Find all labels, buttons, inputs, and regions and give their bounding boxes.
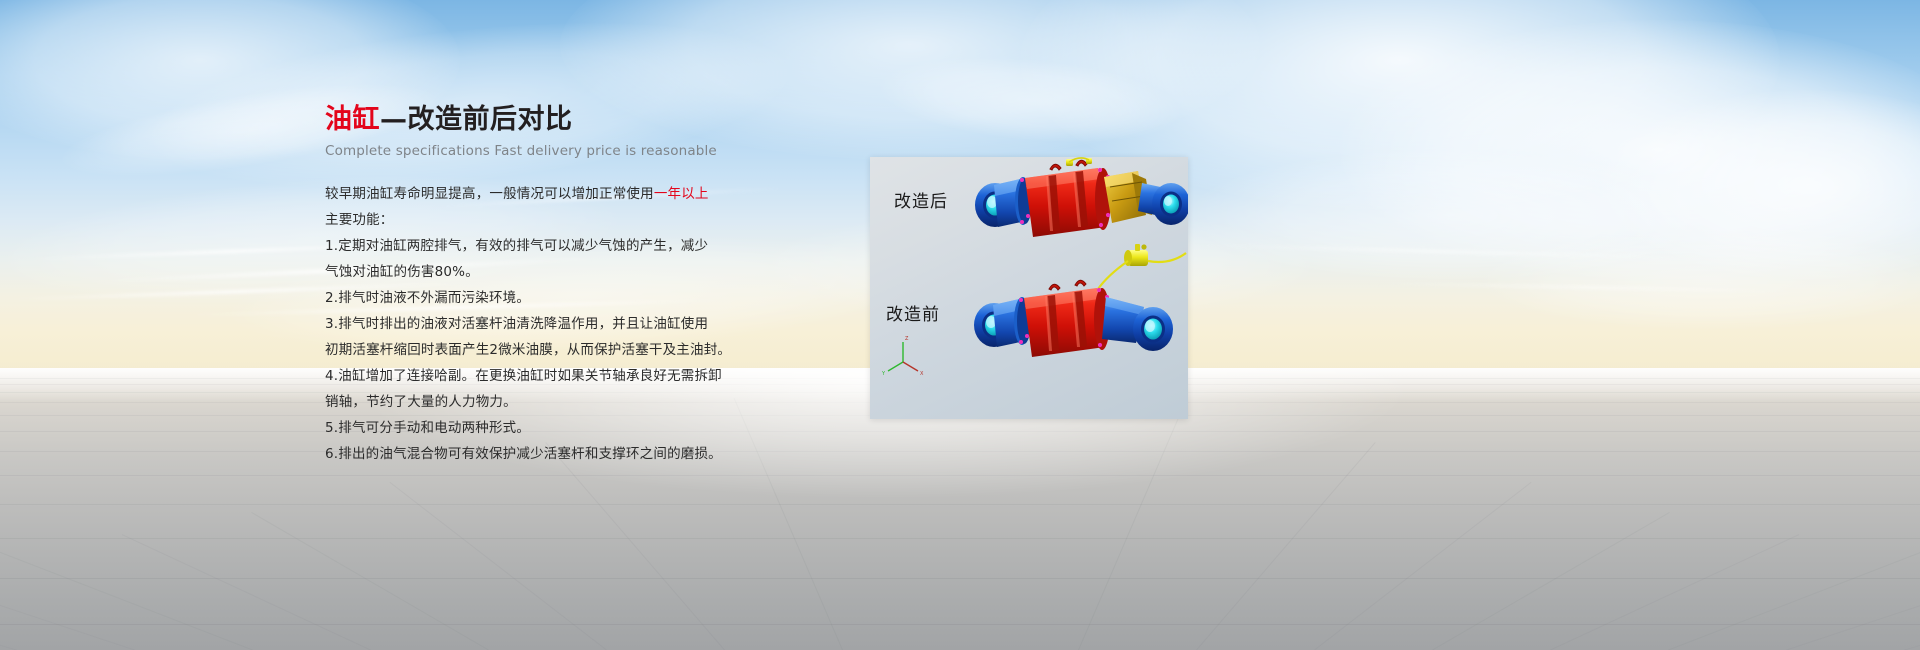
body-line-text: 5.排气可分手动和电动两种形式。 bbox=[325, 420, 530, 436]
body-line: 销轴，节约了大量的人力物力。 bbox=[325, 389, 785, 415]
body-line: 主要功能： bbox=[325, 207, 785, 233]
body-line-text: 2.排气时油液不外漏而污染环境。 bbox=[325, 290, 530, 306]
body-text-list: 较早期油缸寿命明显提高，一般情况可以增加正常使用一年以上主要功能：1.定期对油缸… bbox=[325, 181, 785, 467]
svg-text:Z: Z bbox=[905, 336, 909, 342]
body-line: 初期活塞杆缩回时表面产生2微米油膜，从而保护活塞干及主油封。 bbox=[325, 337, 785, 363]
body-line-text: 初期活塞杆缩回时表面产生2微米油膜，从而保护活塞干及主油封。 bbox=[325, 342, 731, 358]
cloud-shape bbox=[1600, 90, 1920, 280]
ground-joint-vertical bbox=[1196, 442, 1376, 650]
ground-joint-horizontal bbox=[0, 504, 1920, 505]
ground-joint-vertical bbox=[251, 512, 488, 650]
ground-joint-vertical bbox=[1078, 398, 1187, 650]
ground-joint-vertical bbox=[1550, 534, 1799, 650]
body-line: 3.排气时排出的油液对活塞杆油清洗降温作用，并且让油缸使用 bbox=[325, 311, 785, 337]
ground-joint-vertical bbox=[545, 442, 725, 650]
body-line-highlight: 一年以上 bbox=[654, 186, 709, 202]
ground-joint-vertical bbox=[1786, 563, 1920, 650]
ground-joint-vertical bbox=[1432, 512, 1669, 650]
cloud-streak bbox=[1180, 243, 1700, 260]
body-line: 较早期油缸寿命明显提高，一般情况可以增加正常使用一年以上 bbox=[325, 181, 785, 207]
body-line: 1.定期对油缸两腔排气，有效的排气可以减少气蚀的产生，减少 bbox=[325, 233, 785, 259]
body-line-text: 销轴，节约了大量的人力物力。 bbox=[325, 394, 517, 410]
ground-joint-horizontal bbox=[0, 578, 1920, 579]
ground-joint-vertical bbox=[122, 534, 371, 650]
cloud-streak bbox=[1360, 282, 1820, 294]
label-before: 改造前 bbox=[886, 300, 940, 325]
body-line: 6.排出的油气混合物可有效保护减少活塞杆和支撑环之间的磨损。 bbox=[325, 441, 785, 467]
cloud-shape bbox=[1340, 20, 1920, 280]
ground-joint-vertical bbox=[0, 551, 253, 650]
title-highlight: 油缸 bbox=[325, 104, 380, 135]
body-line-text: 3.排气时排出的油液对活塞杆油清洗降温作用，并且让油缸使用 bbox=[325, 316, 708, 332]
body-line-text: 6.排出的油气混合物可有效保护减少活塞杆和支撑环之间的磨损。 bbox=[325, 446, 722, 462]
ground-joint-vertical bbox=[0, 563, 135, 650]
promo-banner: 油缸—改造前后对比 Complete specifications Fast d… bbox=[0, 0, 1920, 650]
body-line-text: 较早期油缸寿命明显提高，一般情况可以增加正常使用 bbox=[325, 186, 654, 202]
ground-joint-horizontal bbox=[0, 475, 1920, 476]
body-line: 2.排气时油液不外漏而污染环境。 bbox=[325, 285, 785, 311]
copy-block: 油缸—改造前后对比 Complete specifications Fast d… bbox=[325, 104, 785, 467]
ground-joint-horizontal bbox=[0, 431, 1920, 432]
ground-joint-vertical bbox=[0, 573, 17, 650]
body-line: 气蚀对油缸的伤害80%。 bbox=[325, 259, 785, 285]
ground-joint-vertical bbox=[1668, 551, 1920, 650]
ground-joint-horizontal bbox=[0, 538, 1920, 539]
body-line-text: 4.油缸增加了连接哈副。在更换油缸时如果关节轴承良好无需拆卸 bbox=[325, 368, 722, 384]
svg-text:Y: Y bbox=[881, 371, 886, 377]
body-line: 5.排气可分手动和电动两种形式。 bbox=[325, 415, 785, 441]
body-line-text: 1.定期对油缸两腔排气，有效的排气可以减少气蚀的产生，减少 bbox=[325, 238, 708, 254]
cloud-shape bbox=[1190, 150, 1710, 280]
ground-joint-horizontal bbox=[0, 624, 1920, 625]
ground-joint-horizontal bbox=[0, 451, 1920, 452]
coordinate-axis-icon: Z Y X bbox=[881, 336, 924, 377]
body-line-text: 主要功能： bbox=[325, 212, 394, 228]
svg-text:X: X bbox=[920, 371, 924, 377]
page-title: 油缸—改造前后对比 bbox=[325, 104, 785, 136]
body-line-text: 气蚀对油缸的伤害80%。 bbox=[325, 264, 479, 280]
label-after: 改造后 bbox=[894, 187, 948, 212]
cylinder-before bbox=[974, 280, 1173, 357]
cloud-shape bbox=[1480, 230, 1920, 330]
body-line: 4.油缸增加了连接哈副。在更换油缸时如果关节轴承良好无需拆卸 bbox=[325, 363, 785, 389]
ground-joint-vertical bbox=[1904, 573, 1920, 650]
page-subtitle: Complete specifications Fast delivery pr… bbox=[325, 143, 785, 159]
title-rest: —改造前后对比 bbox=[380, 104, 573, 135]
cad-comparison-panel: Z Y X 改造后 改造前 bbox=[870, 157, 1188, 419]
cylinder-after bbox=[975, 158, 1188, 237]
exhaust-valve-assembly bbox=[1098, 244, 1186, 289]
cloud-shape bbox=[877, 47, 1183, 153]
